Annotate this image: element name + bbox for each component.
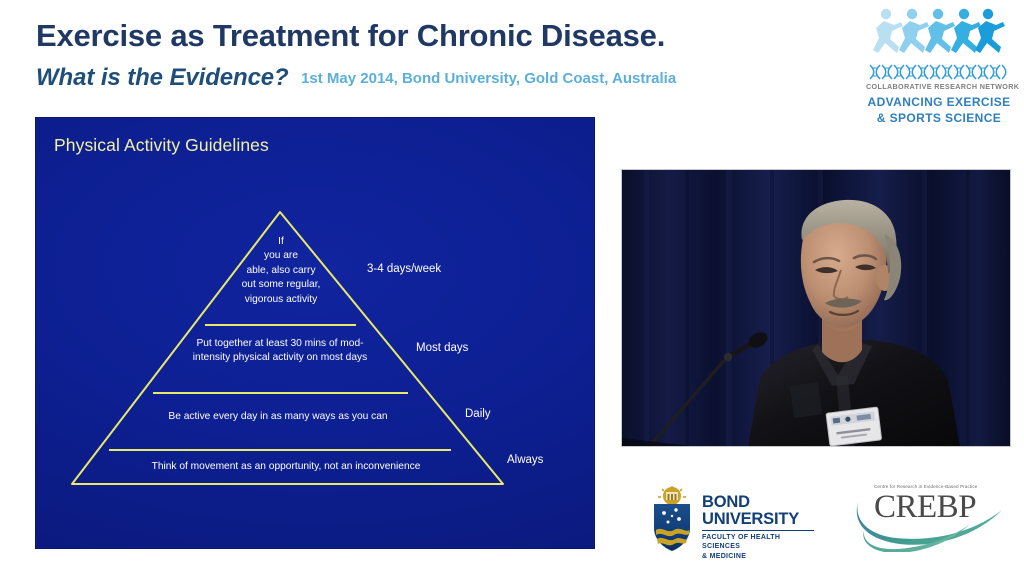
crebp-logo: Centre for Research in Evidence-Based Pr… — [852, 482, 1010, 558]
dna-helix-icon — [868, 64, 1010, 80]
page-subtitle: What is the Evidence? — [36, 64, 289, 91]
tier-vigorous-frequency: 3-4 days/week — [367, 263, 441, 275]
bond-wordmark: BOND UNIVERSITY FACULTY OF HEALTH SCIENC… — [702, 494, 820, 561]
crn-headline-2: & SPORTS SCIENCE — [866, 111, 1012, 125]
crn-logo: COLLABORATIVE RESEARCH NETWORK ADVANCING… — [866, 6, 1012, 130]
tier-active-text: Be active every day in as many ways as y… — [118, 410, 438, 424]
speaker-video-still — [622, 170, 1010, 446]
page-title: Exercise as Treatment for Chronic Diseas… — [36, 18, 665, 54]
running-figures-icon — [870, 6, 1010, 66]
crn-tagline: COLLABORATIVE RESEARCH NETWORK — [866, 82, 1012, 91]
bond-divider — [702, 530, 814, 531]
bond-university-logo: BOND UNIVERSITY FACULTY OF HEALTH SCIENC… — [648, 486, 816, 558]
page-header: Exercise as Treatment for Chronic Diseas… — [0, 0, 1024, 112]
tier-movement-text: Think of movement as an opportunity, not… — [90, 460, 482, 474]
header-subtitle-row: What is the Evidence? 1st May 2014, Bond… — [36, 64, 676, 92]
presentation-slide: Physical Activity Guidelines If you are … — [36, 118, 594, 548]
event-details: 1st May 2014, Bond University, Gold Coas… — [301, 70, 676, 87]
crn-headline-1: ADVANCING EXERCISE — [866, 95, 1012, 109]
speaker-video[interactable] — [622, 170, 1010, 446]
bond-name-line2: UNIVERSITY — [702, 511, 820, 528]
pyramid-diagram — [36, 118, 594, 548]
bond-name-line1: BOND — [702, 494, 820, 511]
tier-movement-frequency: Always — [507, 454, 543, 466]
bond-shield-icon — [648, 486, 696, 552]
tier-vigorous-text: If you are able, also carry out some reg… — [220, 235, 342, 307]
tier-active-frequency: Daily — [465, 408, 491, 420]
tier-moderate-text: Put together at least 30 mins of mod- in… — [162, 337, 398, 366]
crebp-wordmark: CREBP — [874, 491, 976, 524]
bond-faculty-line: FACULTY OF HEALTH SCIENCES & MEDICINE — [702, 533, 820, 560]
tier-moderate-frequency: Most days — [416, 342, 468, 354]
